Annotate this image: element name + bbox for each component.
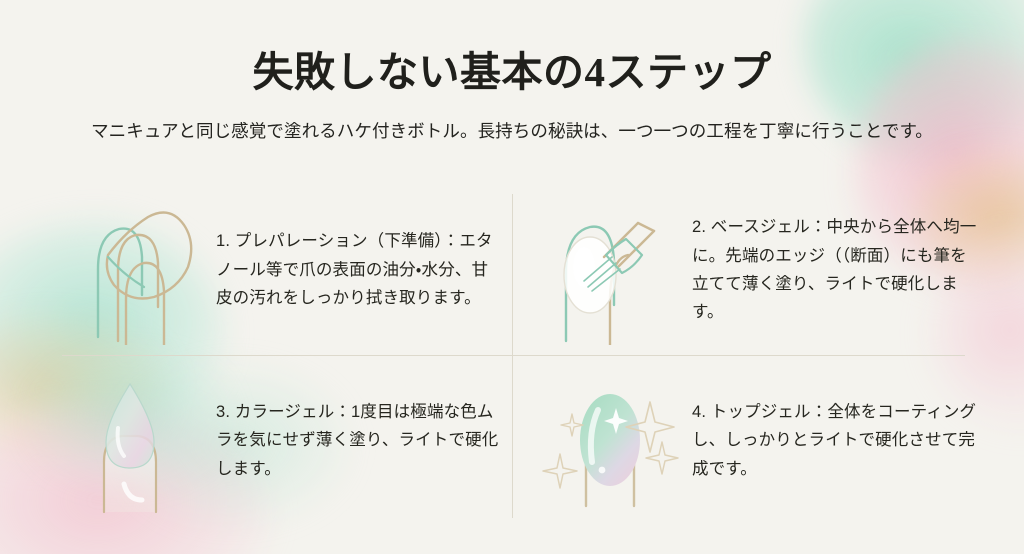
vertical-divider: [512, 194, 513, 518]
page-subtitle: マニキュアと同じ感覚で塗れるハケ付きボトル。長持ちの秘訣は、一つ一つの工程を丁寧…: [0, 118, 1024, 143]
glossy-nail-sparkle-icon: [538, 366, 686, 516]
glossy-nail-sparkle-wrapper: 4. トップジェル：全体をコーティングし、しっかりとライトで硬化させて完成です。: [538, 363, 978, 518]
step-item-3: 3. カラージェル：1度目は極端な色ムラを気にせず薄く塗り、ライトで硬化します。: [62, 363, 502, 518]
nail-brush-base-gel-icon: [538, 195, 686, 345]
step-item-2: 2. ベースジェル：中央から全体へ均一に。先端のエッジ（（断面）にも筆を立てて薄…: [538, 190, 978, 350]
gel-droplet-nail-icon: [62, 366, 210, 516]
nail-wipe-cotton-pad-icon: [62, 195, 210, 345]
step-item-1: 1. プレパレーション（下準備）：エタノール等で爪の表面の油分・水分、甘皮の汚れ…: [62, 190, 502, 350]
step-text-2: 2. ベースジェル：中央から全体へ均一に。先端のエッジ（（断面）にも筆を立てて薄…: [692, 213, 978, 327]
infographic-poster: 失敗しない基本の4ステップ マニキュアと同じ感覚で塗れるハケ付きボトル。長持ちの…: [0, 0, 1024, 554]
step-text-3: 3. カラージェル：1度目は極端な色ムラを気にせず薄く塗り、ライトで硬化します。: [216, 398, 502, 483]
step-text-4: 4. トップジェル：全体をコーティングし、しっかりとライトで硬化させて完成です。: [692, 398, 978, 483]
page-title: 失敗しない基本の4ステップ: [0, 38, 1024, 98]
horizontal-divider: [62, 355, 965, 356]
step-text-1: 1. プレパレーション（下準備）：エタノール等で爪の表面の油分・水分、甘皮の汚れ…: [216, 227, 502, 312]
